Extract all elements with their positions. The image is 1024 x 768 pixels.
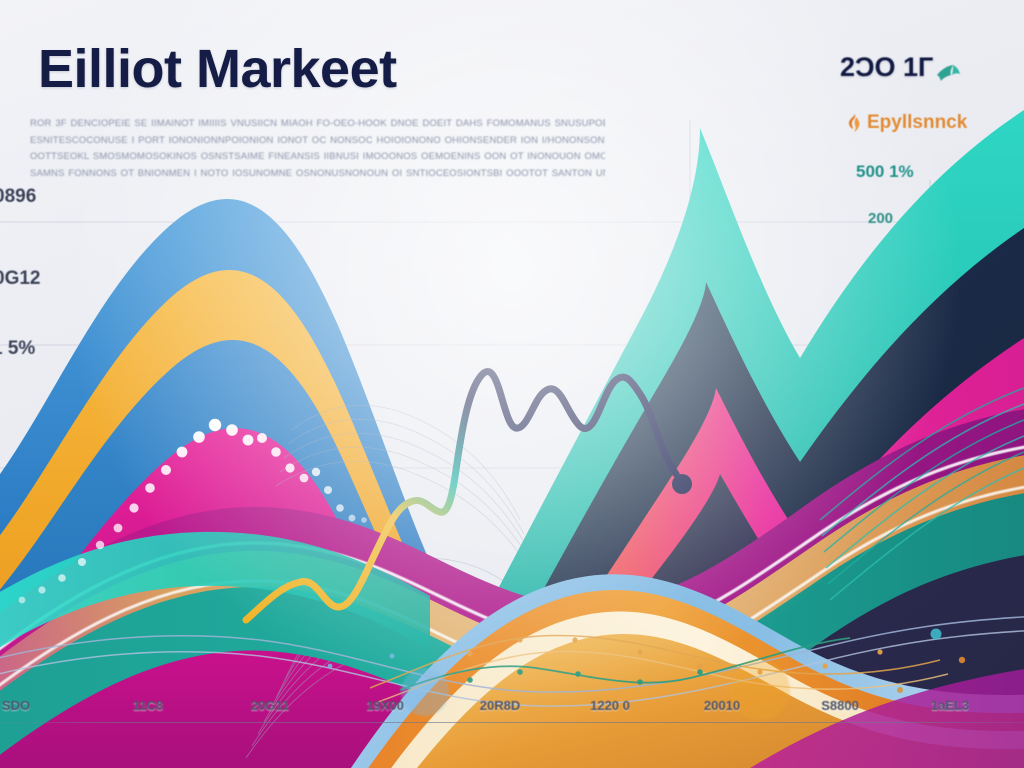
subtitle-line-3: OOTTSEOKL SMOSMOMOSOKINOS OSNSTSAIME FIN… <box>30 149 605 166</box>
legend-brand-label: Epyllsnnck <box>867 112 967 134</box>
subtitle-line-2: ESNITESCOCONUSE I PORT IONONIONNPOIONION… <box>30 133 605 150</box>
x-tick-7: S8800 <box>821 698 859 713</box>
x-tick-2: 20G11 <box>251 698 289 713</box>
page-title: Eilliot Markeet <box>38 38 397 100</box>
subtitle-paragraph: ROR 3F DENCIOPEIE SE IIMAINOT IMIIIIS VN… <box>30 116 605 182</box>
legend-primary-value: 2ƆO 1Г <box>840 52 961 83</box>
teal-arrow-marker-icon <box>935 59 961 79</box>
y-label-1: 0G12 <box>0 268 40 290</box>
subtitle-line-4: SAMNS FONNONS OT BNIONMEN I NOTO IOSUNOM… <box>30 166 605 183</box>
x-tick-1: 11C8 <box>133 698 163 713</box>
x-tick-4: 20R8D <box>480 698 520 713</box>
x-tick-0: SDO <box>2 698 30 713</box>
y-label-0: 0896 <box>0 186 36 208</box>
chart-canvas: Eilliot Markeet ROR 3F DENCIOPEIE SE IIM… <box>0 0 1024 768</box>
orange-flame-icon <box>848 114 861 132</box>
legend-brand: Epyllsnnck <box>848 112 967 134</box>
legend-primary-text: 2ƆO 1Г <box>840 52 933 82</box>
x-axis-line <box>0 722 1024 723</box>
y-label-2: 1 5% <box>0 338 35 360</box>
x-tick-5: 1220 0 <box>590 698 630 713</box>
x-tick-3: 19X00 <box>366 698 404 713</box>
x-tick-6: 20010 <box>704 698 740 713</box>
x-tick-8: 1aEL3 <box>931 698 969 713</box>
legend-metric-2: 200 <box>868 210 893 227</box>
x-axis-tick-group: SDO 11C8 20G11 19X00 20R8D 1220 0 20010 … <box>0 698 1024 720</box>
legend-metric-1: 500 1% <box>856 162 914 182</box>
subtitle-line-1: ROR 3F DENCIOPEIE SE IIMAINOT IMIIIIS VN… <box>30 116 605 133</box>
